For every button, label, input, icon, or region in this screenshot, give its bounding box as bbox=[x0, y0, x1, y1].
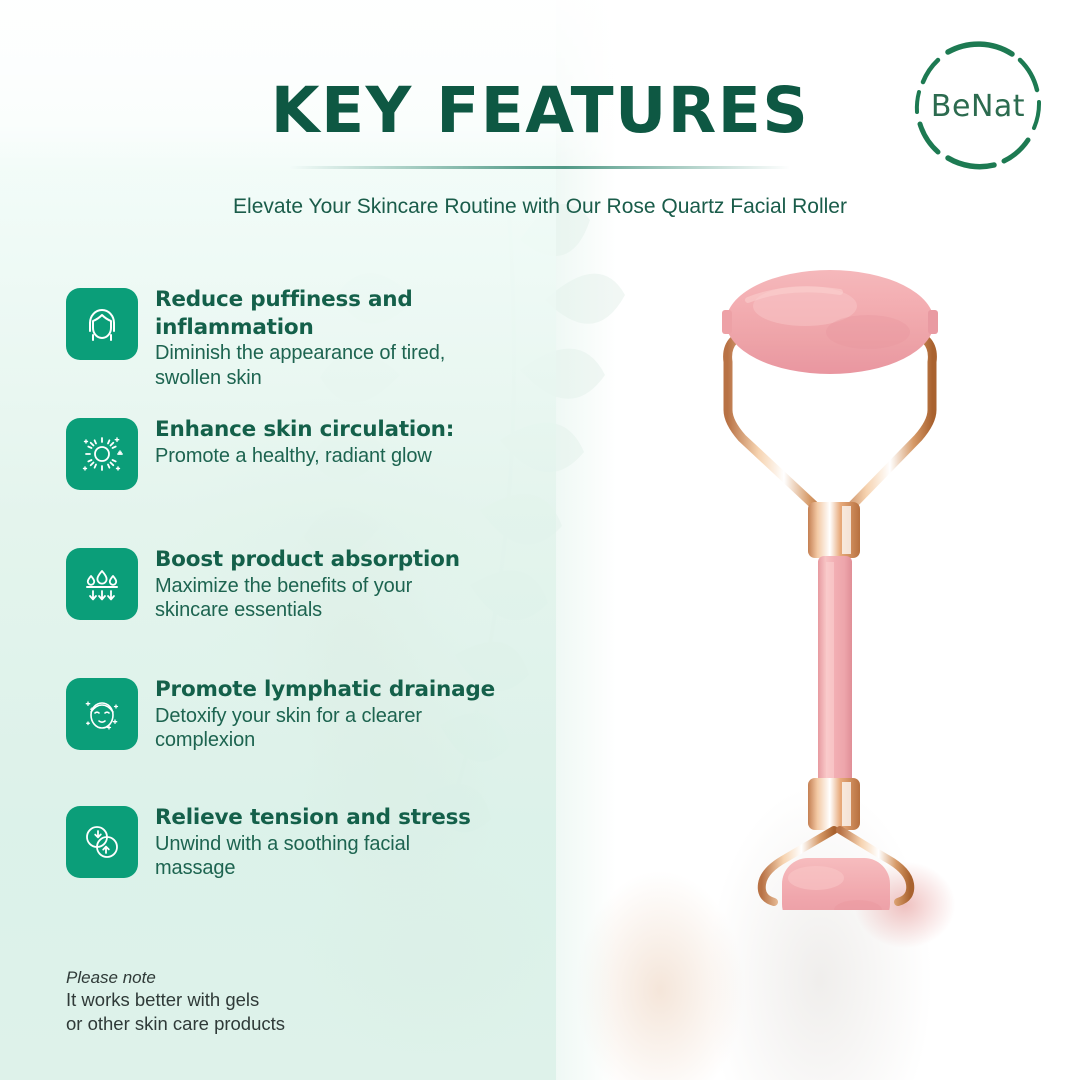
roller-handle bbox=[818, 556, 852, 788]
feature-title: Promote lymphatic drainage bbox=[155, 676, 555, 704]
please-note-block: Please note It works better with gels or… bbox=[66, 968, 466, 1035]
feature-text: Enhance skin circulation: Promote a heal… bbox=[155, 416, 555, 468]
bottom-roller-stone bbox=[782, 858, 890, 910]
top-roller-stone bbox=[722, 270, 938, 374]
product-image-rose-quartz-roller bbox=[690, 270, 1010, 910]
feature-text: Reduce puffiness and inflammation Dimini… bbox=[155, 286, 555, 390]
title-divider bbox=[290, 166, 790, 169]
note-label: Please note bbox=[66, 968, 466, 988]
brand-logo: BeNat bbox=[900, 28, 1056, 184]
logo-text: BeNat bbox=[900, 28, 1056, 184]
bottom-collar bbox=[808, 778, 860, 830]
feature-desc-line: Maximize the benefits of your bbox=[155, 575, 555, 599]
top-collar bbox=[808, 502, 860, 558]
feature-desc-line: Detoxify your skin for a clearer bbox=[155, 705, 555, 729]
sun-sparkle-icon bbox=[66, 418, 138, 490]
feature-desc-line: massage bbox=[155, 857, 555, 881]
feature-desc-line: skincare essentials bbox=[155, 599, 555, 623]
massage-circles-icon bbox=[66, 806, 138, 878]
note-line: or other skin care products bbox=[66, 1012, 466, 1036]
feature-text: Relieve tension and stress Unwind with a… bbox=[155, 804, 555, 881]
note-line: It works better with gels bbox=[66, 988, 466, 1012]
page-subtitle: Elevate Your Skincare Routine with Our R… bbox=[0, 195, 1080, 219]
absorption-droplets-icon bbox=[66, 548, 138, 620]
glowing-face-icon bbox=[66, 678, 138, 750]
feature-desc-line: Promote a healthy, radiant glow bbox=[155, 445, 555, 469]
feature-text: Boost product absorption Maximize the be… bbox=[155, 546, 555, 623]
feature-desc-line: complexion bbox=[155, 729, 555, 753]
feature-title: Reduce puffiness and inflammation bbox=[155, 286, 555, 341]
feature-desc-line: Diminish the appearance of tired, bbox=[155, 342, 555, 366]
feature-desc-line: swollen skin bbox=[155, 367, 555, 391]
feature-title: Enhance skin circulation: bbox=[155, 416, 555, 444]
feature-title: Boost product absorption bbox=[155, 546, 555, 574]
feature-desc-line: Unwind with a soothing facial bbox=[155, 833, 555, 857]
feature-text: Promote lymphatic drainage Detoxify your… bbox=[155, 676, 555, 753]
puffy-face-icon bbox=[66, 288, 138, 360]
feature-title: Relieve tension and stress bbox=[155, 804, 555, 832]
